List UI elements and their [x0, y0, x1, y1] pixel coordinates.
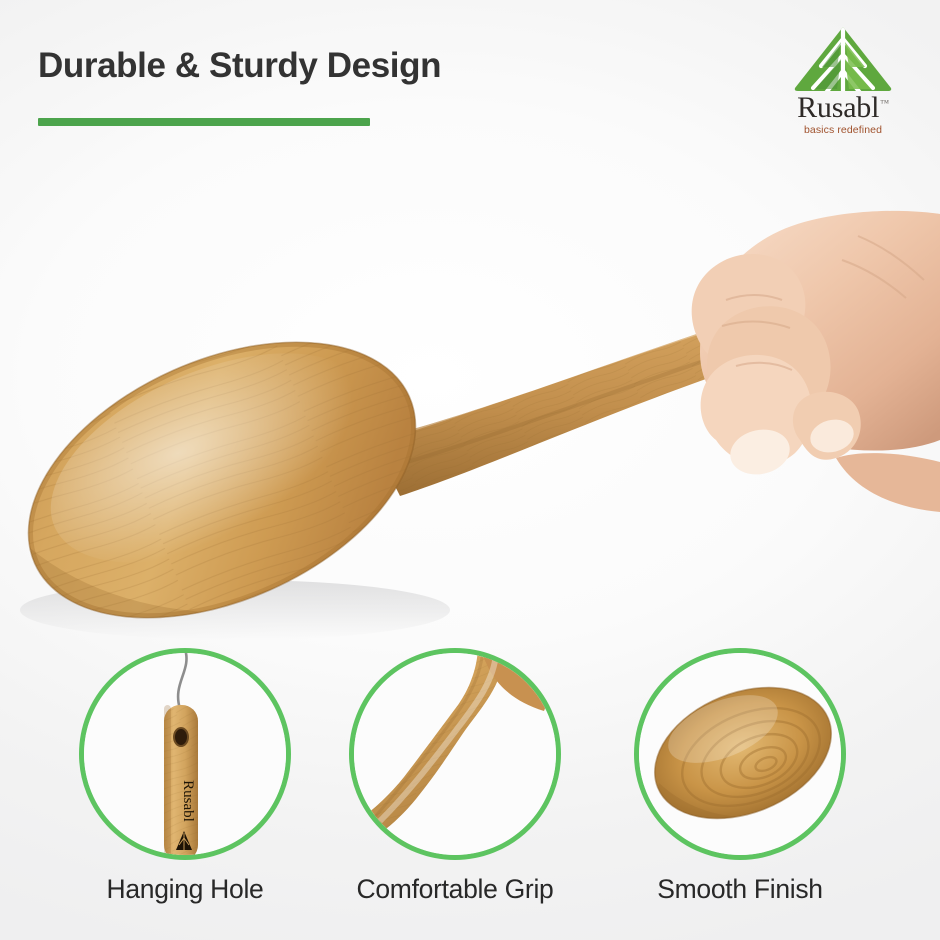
- feature-highlights: Rusabl Hanging Hole: [0, 640, 940, 940]
- spoon-handle-taper-photo: [354, 653, 556, 855]
- hand-grip: [692, 211, 940, 512]
- hero-illustration: [0, 140, 940, 640]
- feature-circle-smooth-finish: [634, 648, 846, 860]
- feature-comfortable-grip: Comfortable Grip: [335, 640, 575, 905]
- leaf-logo-icon: [791, 26, 895, 92]
- spoon-bowl: [0, 287, 460, 640]
- feature-smooth-finish: Smooth Finish: [620, 640, 860, 905]
- title-underline-rule: [38, 118, 370, 126]
- spoon-handle-hanging-hole-photo: Rusabl: [84, 653, 286, 855]
- page-title: Durable & Sturdy Design: [38, 46, 441, 86]
- feature-label-comfortable-grip: Comfortable Grip: [335, 874, 575, 905]
- brand-tagline: basics redefined: [778, 124, 908, 136]
- brand-wordmark-text: Rusabl: [797, 91, 879, 124]
- brand-logo: Rusabl™ basics redefined: [778, 26, 908, 136]
- feature-hanging-hole: Rusabl Hanging Hole: [65, 640, 305, 905]
- marketing-image-canvas: Durable & Sturdy Design: [0, 0, 940, 940]
- brand-wordmark: Rusabl™: [797, 93, 889, 123]
- spoon-bowl-interior-photo: [639, 653, 841, 855]
- feature-circle-hanging-hole: Rusabl: [79, 648, 291, 860]
- engraved-brand-text: Rusabl: [180, 780, 196, 822]
- feature-label-hanging-hole: Hanging Hole: [65, 874, 305, 905]
- feature-circle-comfortable-grip: [349, 648, 561, 860]
- hero-product-photo: [0, 140, 940, 640]
- trademark-symbol: ™: [880, 98, 889, 108]
- feature-label-smooth-finish: Smooth Finish: [620, 874, 860, 905]
